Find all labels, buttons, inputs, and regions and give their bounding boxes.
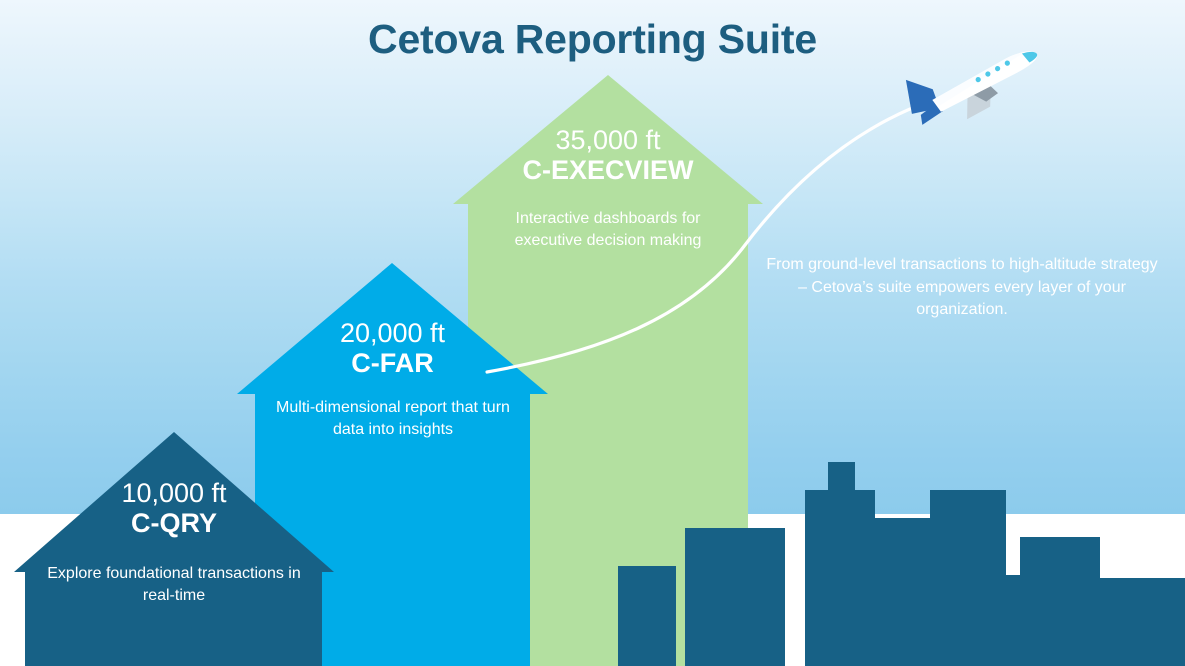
tagline-text: From ground-level transactions to high-a… [760, 254, 1164, 322]
building [930, 490, 1006, 666]
building [1006, 575, 1020, 666]
building [685, 528, 785, 666]
building-spire [828, 462, 855, 666]
building [1142, 578, 1185, 666]
airplane-icon [905, 48, 1050, 128]
infographic-canvas: Cetova Reporting Suite 35,000 ft C-EXECV… [0, 0, 1185, 666]
building [618, 566, 676, 666]
building [1100, 578, 1142, 666]
building [875, 518, 930, 666]
building [1020, 537, 1100, 666]
